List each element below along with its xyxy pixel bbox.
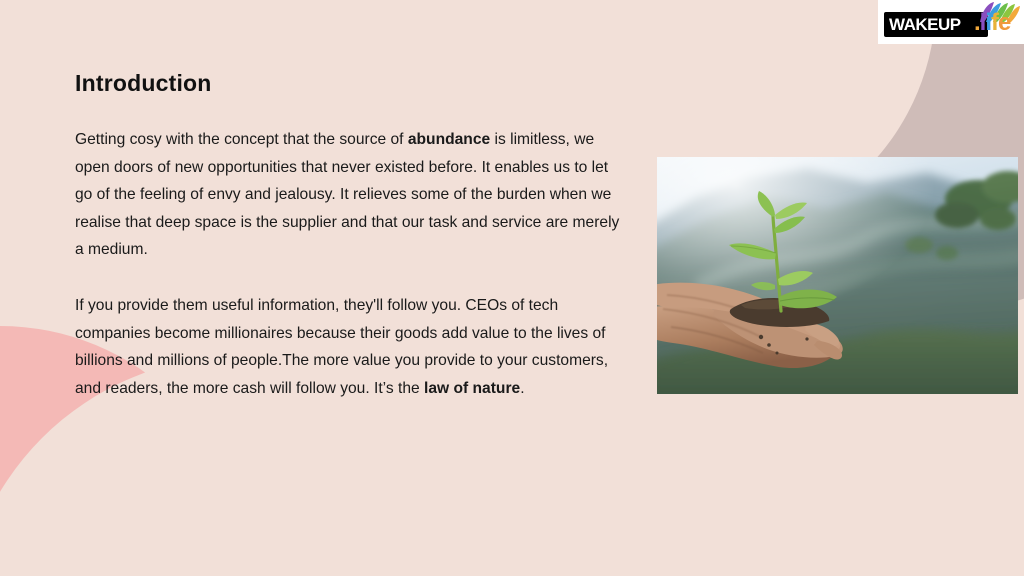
logo-suffix-text: .life	[974, 11, 1010, 35]
paragraph-1-run-1: Getting cosy with the concept that the s…	[75, 131, 408, 148]
paragraph-1-run-3: is limitless, we open doors of new oppor…	[75, 131, 619, 258]
page-title: Introduction	[75, 70, 212, 97]
slide-canvas: WAKEUP .life Introduction Getting cosy w…	[0, 0, 1024, 576]
paragraph-2-run-2-bold: law of nature	[424, 380, 520, 397]
paragraph-2-run-1: If you provide them useful information, …	[75, 297, 608, 397]
body-text-block: Getting cosy with the concept that the s…	[75, 126, 623, 402]
paragraph-1-run-2-bold: abundance	[408, 131, 490, 148]
wakeup-life-logo[interactable]: WAKEUP .life	[878, 0, 1024, 44]
paragraph-1: Getting cosy with the concept that the s…	[75, 126, 623, 264]
logo-wordmark-text: WAKEUP	[889, 15, 961, 35]
seedling-photo-graphic	[657, 157, 1018, 394]
seedling-in-hands-photo	[657, 157, 1018, 394]
paragraph-2: If you provide them useful information, …	[75, 292, 623, 402]
logo-suffix-letter-f: f	[991, 9, 998, 36]
logo-wordmark-plate: WAKEUP	[884, 12, 988, 37]
paragraph-2-run-3: .	[520, 380, 524, 397]
logo-suffix-letter-e: e	[998, 9, 1010, 36]
